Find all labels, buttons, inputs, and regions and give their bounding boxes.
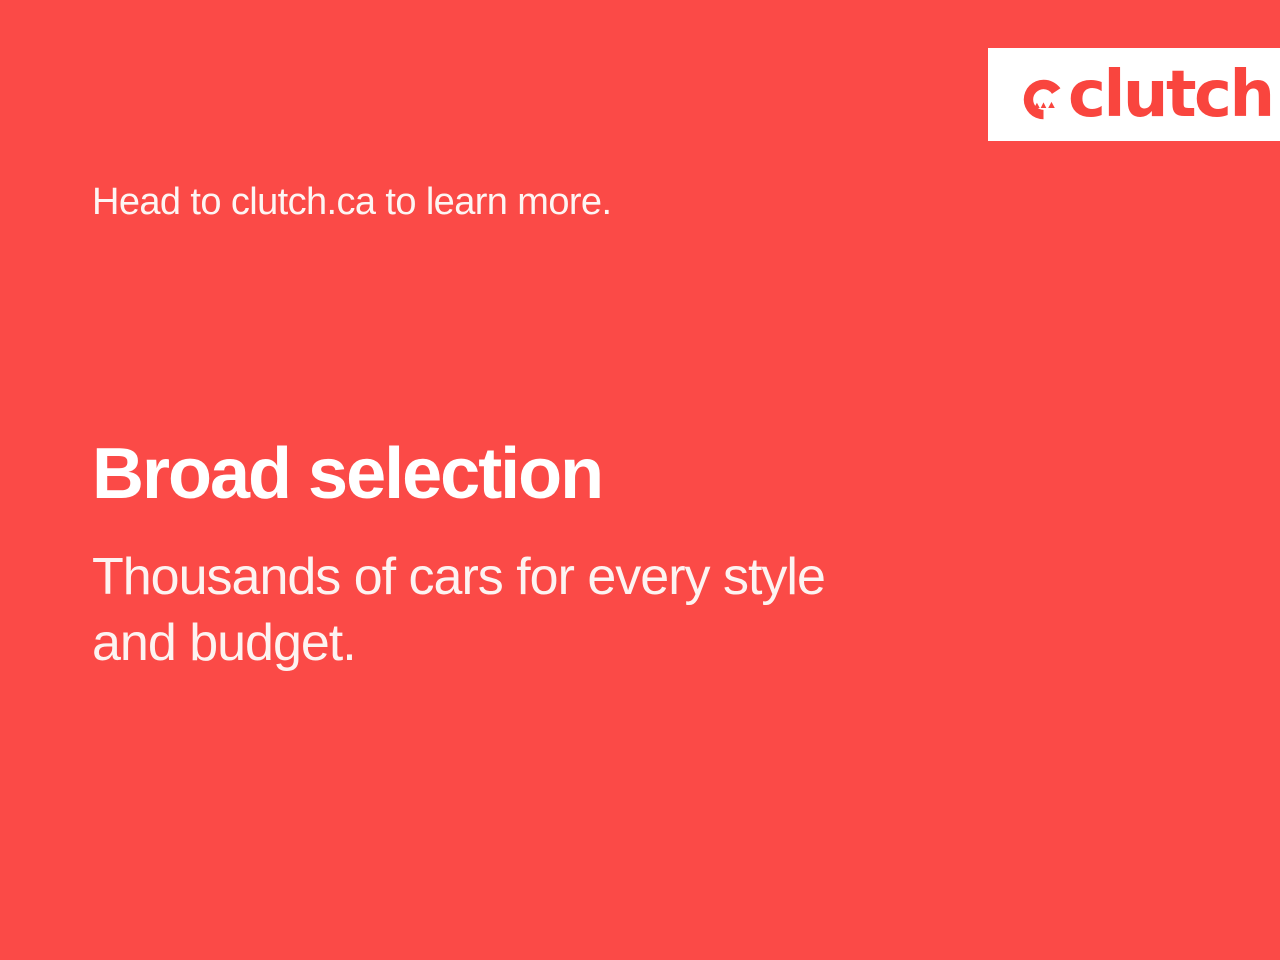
subhead-line-2: and budget. (92, 610, 1052, 676)
subhead-text: Thousands of cars for every style and bu… (92, 544, 1052, 676)
slide-canvas: clutch Head to clutch.ca to learn more. … (0, 0, 1280, 960)
logo-lockup: clutch (1020, 63, 1273, 127)
subhead-line-1: Thousands of cars for every style (92, 544, 1052, 610)
clutch-logo-badge[interactable]: clutch (988, 48, 1280, 141)
clutch-wordmark: clutch (1068, 63, 1273, 127)
clutch-c-mark-icon (1020, 76, 1067, 123)
kicker-text: Head to clutch.ca to learn more. (92, 180, 611, 226)
headline-text: Broad selection (92, 436, 602, 514)
